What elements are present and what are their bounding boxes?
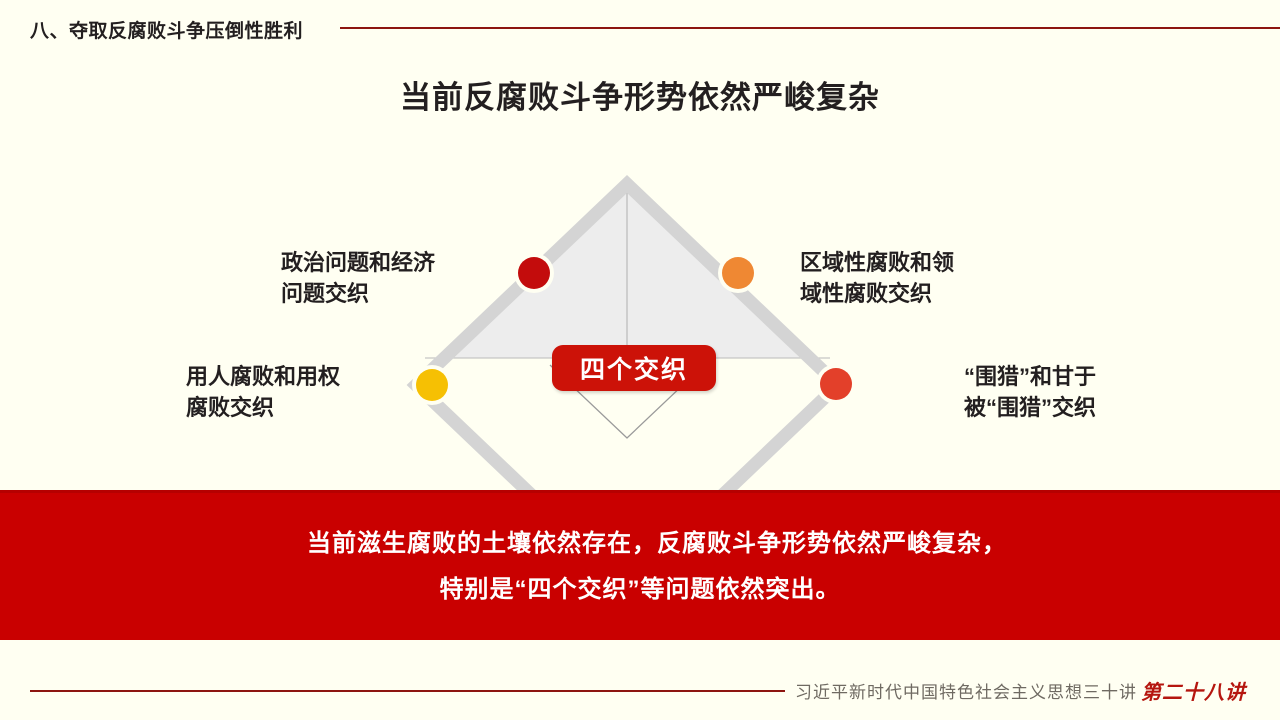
node-label-left: 用人腐败和用权 腐败交织 bbox=[186, 361, 340, 423]
center-badge[interactable]: 四个交织 bbox=[552, 345, 716, 391]
node-dot-top-left[interactable] bbox=[518, 257, 550, 289]
node-label-right-line2: 被“围猎”交织 bbox=[886, 392, 1096, 423]
node-label-top-right: 区域性腐败和领 域性腐败交织 bbox=[800, 247, 954, 309]
footer-divider-line bbox=[30, 690, 785, 692]
slide-canvas: 八、夺取反腐败斗争压倒性胜利 当前反腐败斗争形势依然严峻复杂 四个交织 政治问题… bbox=[0, 0, 1280, 720]
node-dot-top-right[interactable] bbox=[722, 257, 754, 289]
conclusion-banner-line2: 特别是“四个交织”等问题依然突出。 bbox=[440, 567, 841, 613]
header-divider-line bbox=[340, 27, 1280, 29]
diamond-graphic bbox=[390, 160, 890, 520]
page-title: 当前反腐败斗争形势依然严峻复杂 bbox=[0, 72, 1280, 117]
diamond-diagram bbox=[390, 160, 890, 520]
node-label-left-line1: 用人腐败和用权 bbox=[186, 361, 340, 392]
footer-book-title: 习近平新时代中国特色社会主义思想三十讲 bbox=[795, 678, 1137, 703]
node-label-right-line1: “围猎”和甘于 bbox=[886, 361, 1096, 392]
conclusion-banner: 当前滋生腐败的土壤依然存在，反腐败斗争形势依然严峻复杂， 特别是“四个交织”等问… bbox=[0, 490, 1280, 640]
section-title: 八、夺取反腐败斗争压倒性胜利 bbox=[30, 16, 303, 43]
node-label-right: “围猎”和甘于 被“围猎”交织 bbox=[886, 361, 1096, 423]
footer-lecture-number: 第二十八讲 bbox=[1141, 676, 1246, 705]
node-label-top-left-line2: 问题交织 bbox=[281, 278, 435, 309]
center-badge-label: 四个交织 bbox=[580, 350, 688, 386]
node-dot-right[interactable] bbox=[820, 368, 852, 400]
node-dot-left[interactable] bbox=[416, 369, 448, 401]
conclusion-banner-line1: 当前滋生腐败的土壤依然存在，反腐败斗争形势依然严峻复杂， bbox=[273, 521, 1007, 567]
node-label-top-left: 政治问题和经济 问题交织 bbox=[281, 247, 435, 309]
node-label-top-right-line1: 区域性腐败和领 bbox=[800, 247, 954, 278]
node-label-top-left-line1: 政治问题和经济 bbox=[281, 247, 435, 278]
node-label-left-line2: 腐败交织 bbox=[186, 392, 340, 423]
node-label-top-right-line2: 域性腐败交织 bbox=[800, 278, 954, 309]
slide-header: 八、夺取反腐败斗争压倒性胜利 bbox=[0, 8, 1280, 48]
